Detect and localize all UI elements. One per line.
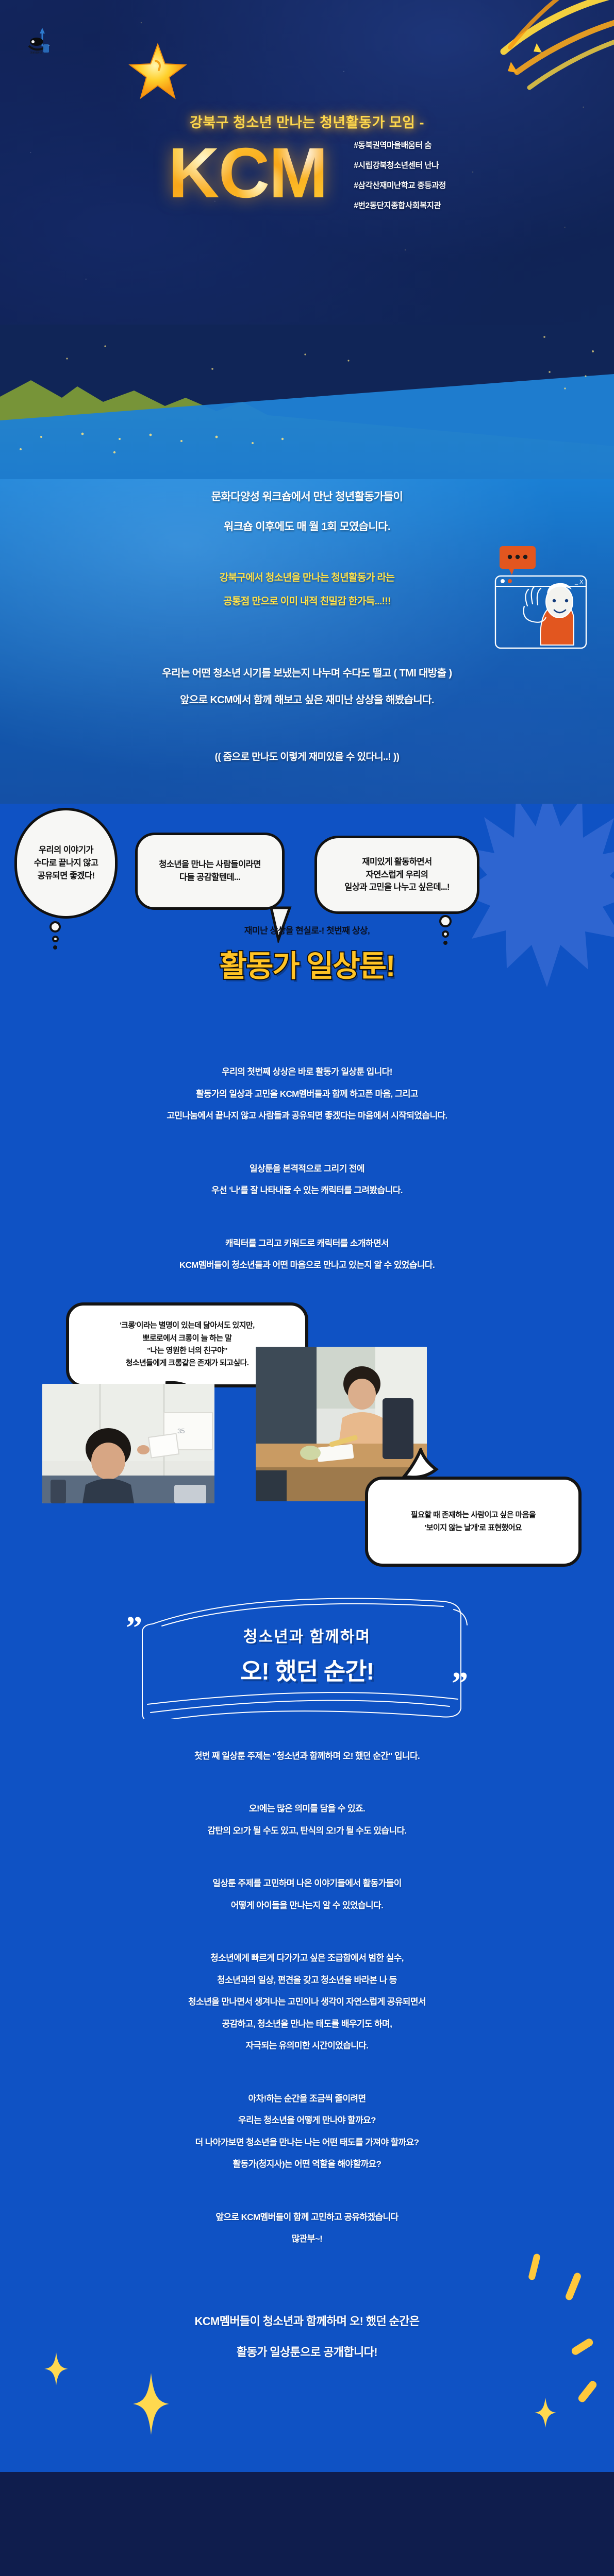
body-copy-section: 우리의 첫번째 상상은 바로 활동가 일상툰 입니다! 활동가의 일상과 고민을…	[0, 1020, 614, 1297]
moment-copy-section: 첫번 째 일상툰 주제는 "청소년과 함께하며 오! 했던 순간" 입니다. 오…	[0, 1725, 614, 2250]
hashtag-item: #시립강북청소년센터 난나	[354, 159, 445, 171]
body-p2-line2: 우선 '나'를 잘 나타내줄 수 있는 캐릭터를 그려봤습니다.	[0, 1180, 614, 1202]
speech-bubble-3-text: 재미있게 활동하면서자연스럽게 우리의일상과 고민을 나누고 싶은데...!	[344, 856, 450, 894]
dash-sparkle-4	[577, 2379, 598, 2403]
moment-m4-line3: 청소년을 만나면서 생겨나는 고민이나 생각이 자연스럽게 공유되면서	[0, 1991, 614, 2013]
hero-section: 마을배움터	[0, 0, 614, 325]
moment-m5-line4: 활동가(청지사)는 어떤 역할을 해야할까요?	[0, 2154, 614, 2176]
footer-line-1: KCM멤버들이 청소년과 함께하며 오! 했던 순간은	[0, 2312, 614, 2329]
intro-line-2: 워크숍 이후에도 매 월 1회 모였습니다.	[0, 518, 614, 534]
moment-m5-line1: 아차!하는 순간을 조금씩 줄이려면	[0, 2088, 614, 2110]
hashtag-list: #동북권역마을배움터 숨 #시립강북청소년센터 난나 #삼각산재미난학교 중등과…	[354, 135, 445, 211]
svg-text:_ X: _ X	[574, 579, 584, 585]
moment-m4-line5: 자극되는 유의미한 시간이었습니다.	[0, 2035, 614, 2057]
intro-line-1: 문화다양성 워크숍에서 만난 청년활동가들이	[0, 488, 614, 504]
moment-m3-line2: 어떻게 아이들을 만나는지 알 수 있었습니다.	[0, 1895, 614, 1917]
mountain-transition	[0, 325, 614, 479]
moment-m4-line2: 청소년과의 일상, 편견을 갖고 청소년을 바라본 나 등	[0, 1970, 614, 1992]
moment-m3-line1: 일상툰 주제를 고민하며 나온 이야기들에서 활동가들이	[0, 1873, 614, 1895]
toon-title: 활동가 일상툰!	[0, 942, 614, 985]
photo-section: '크롱'이라는 별명이 있는데 닮아서도 있지만,뽀로로에서 크롱이 늘 하는 …	[0, 1297, 614, 1581]
moment-m4-line4: 공감하고, 청소년을 만나는 태도를 배우기도 하며,	[0, 2013, 614, 2036]
speech-bubble-2: 청소년을 만나는 사람들이라면다들 공감할텐데...	[135, 833, 285, 910]
footer-section: KCM멤버들이 청소년과 함께하며 오! 했던 순간은 활동가 일상툰으로 공개…	[0, 2250, 614, 2472]
footer-line-2: 활동가 일상툰으로 공개합니다!	[0, 2343, 614, 2360]
intro-line-6: 앞으로 KCM에서 함께 해보고 싶은 재미난 상상을 해봤습니다.	[0, 691, 614, 706]
moment-m6-line2: 많관부~!	[0, 2228, 614, 2250]
body-p2-line1: 일상툰을 본격적으로 그리기 전에	[0, 1158, 614, 1180]
speech-tail-right	[397, 1448, 443, 1484]
photo-speech-right-text: 필요할 때 존재하는 사람이고 싶은 마음을'보이지 않는 날개'로 표현했어요	[411, 1509, 536, 1535]
hashtag-item: #번2동단지종합사회복지관	[354, 199, 445, 211]
photo-speech-right: 필요할 때 존재하는 사람이고 싶은 마음을'보이지 않는 날개'로 표현했어요	[365, 1477, 582, 1567]
speech-bubble-1-text: 우리의 이야기가수다로 끝나지 않고공유되면 좋겠다!	[34, 844, 98, 882]
star-icon	[127, 40, 189, 105]
organization-logo-icon: 마을배움터	[24, 25, 62, 63]
body-p3-line1: 캐릭터를 그리고 키워드로 캐릭터를 소개하면서	[0, 1233, 614, 1255]
moment-heading-top: 청소년과 함께하며	[0, 1624, 614, 1647]
four-point-sparkle-2	[133, 2373, 169, 2437]
body-p1-line1: 우리의 첫번째 상상은 바로 활동가 일상툰 입니다!	[0, 1061, 614, 1083]
speech-bubble-3: 재미있게 활동하면서자연스럽게 우리의일상과 고민을 나누고 싶은데...!	[314, 836, 479, 914]
intro-section: 문화다양성 워크숍에서 만난 청년활동가들이 워크숍 이후에도 매 월 1회 모…	[0, 479, 614, 804]
video-call-illustration: _ X	[491, 542, 589, 653]
moment-m5-line3: 더 나아가보면 청소년을 만나는 나는 어떤 태도를 가져야 할까요?	[0, 2132, 614, 2154]
moment-m4-line1: 청소년에게 빠르게 다가가고 싶은 조급함에서 범한 실수,	[0, 1947, 614, 1970]
poster-page: 마을배움터	[0, 0, 614, 2576]
body-p3-line2: KCM멤버들이 청소년들과 어떤 마음으로 만나고 있는지 알 수 있었습니다.	[0, 1255, 614, 1277]
moment-m6-line1: 앞으로 KCM멤버들이 함께 고민하고 공유하겠습니다	[0, 2207, 614, 2229]
speech-bubble-2-text: 청소년을 만나는 사람들이라면다들 공감할텐데...	[159, 858, 261, 884]
intro-line-7: (( 줌으로 만나도 이렇게 재미있을 수 있다니..! ))	[0, 749, 614, 763]
photo-speech-left-text: '크롱'이라는 별명이 있는데 닮아서도 있지만,뽀로로에서 크롱이 늘 하는 …	[120, 1319, 254, 1369]
dash-sparkle-1	[528, 2253, 541, 2281]
four-point-sparkle-3	[535, 2398, 556, 2430]
hashtag-item: #동북권역마을배움터 숨	[354, 139, 445, 150]
hero-logo-row: KCM #동북권역마을배움터 숨 #시립강북청소년센터 난나 #삼각산재미난학교…	[0, 135, 614, 211]
svg-text:35: 35	[177, 1427, 185, 1435]
dash-sparkle-2	[565, 2272, 582, 2301]
moment-heading-section: ” ” 청소년과 함께하며 오! 했던 순간!	[0, 1581, 614, 1725]
speech-bubble-1: 우리의 이야기가수다로 끝나지 않고공유되면 좋겠다!	[14, 808, 118, 919]
imagine-line: 재미난 상상을 현실로-! 첫번째 상상,	[0, 923, 614, 936]
moment-heading-bottom: 오! 했던 순간!	[0, 1653, 614, 1687]
moment-m1: 첫번 째 일상툰 주제는 "청소년과 함께하며 오! 했던 순간" 입니다.	[0, 1745, 614, 1768]
speech-bubbles-section: 우리의 이야기가수다로 끝나지 않고공유되면 좋겠다! 청소년을 만나는 사람들…	[0, 804, 614, 1020]
photo-left: 35	[42, 1384, 214, 1503]
moment-m5-line2: 우리는 청소년을 어떻게 만나야 할까요?	[0, 2110, 614, 2132]
moment-m2-line2: 감탄의 오!가 될 수도 있고, 탄식의 오!가 될 수도 있습니다.	[0, 1820, 614, 1842]
hashtag-item: #삼각산재미난학교 중등과정	[354, 179, 445, 191]
body-p1-line3: 고민나눔에서 끝나지 않고 사람들과 공유되면 좋겠다는 마음에서 시작되었습니…	[0, 1105, 614, 1127]
hero-subtitle: 강북구 청소년 만나는 청년활동가 모임 -	[0, 111, 614, 131]
intro-line-5: 우리는 어떤 청소년 시기를 보냈는지 나누며 수다도 떨고 ( TMI 대방출…	[0, 665, 614, 680]
moment-m2-line1: 오!에는 많은 의미를 담을 수 있죠.	[0, 1798, 614, 1820]
body-p1-line2: 활동가의 일상과 고민을 KCM멤버들과 함께 하고픈 마음, 그리고	[0, 1083, 614, 1106]
kcm-logo-text: KCM	[168, 138, 327, 209]
svg-text:마을배움터: 마을배움터	[30, 51, 42, 55]
